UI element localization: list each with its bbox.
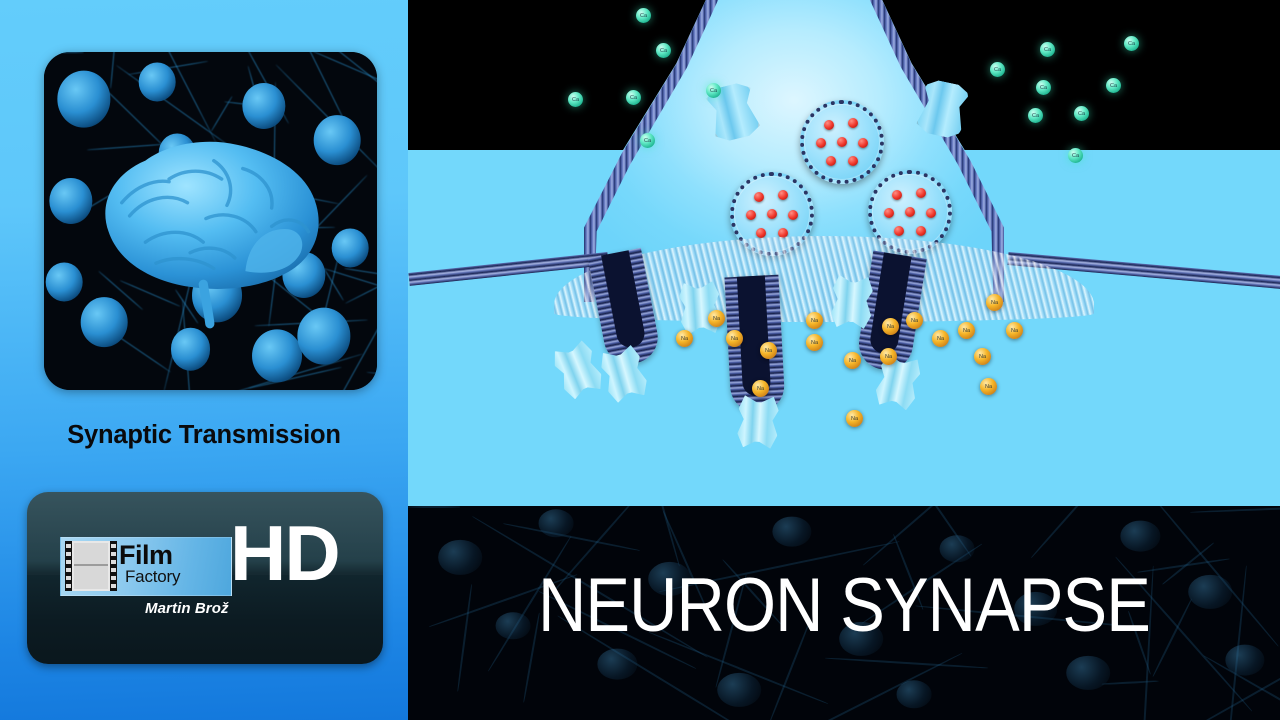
brand-name-film: Film xyxy=(119,542,173,569)
sodium-ion: Na xyxy=(932,330,949,347)
sodium-ion-label: Na xyxy=(752,380,769,397)
sodium-ion: Na xyxy=(760,342,777,359)
sodium-ion: Na xyxy=(986,294,1003,311)
sodium-ion-label: Na xyxy=(958,322,975,339)
sodium-ion-label: Na xyxy=(726,330,743,347)
sidebar-panel: Synaptic Transmission Film Factory xyxy=(0,0,408,720)
brand-name-factory: Factory xyxy=(125,568,180,585)
sodium-ion: Na xyxy=(906,312,923,329)
video-main-title: NEURON SYNAPSE xyxy=(460,568,1227,644)
calcium-ion: Ca xyxy=(1036,80,1051,95)
brain-illustration xyxy=(77,113,340,329)
sodium-ion-label: Na xyxy=(906,312,923,329)
sodium-ion-label: Na xyxy=(708,310,725,327)
sodium-ion-label: Na xyxy=(986,294,1003,311)
calcium-ion: Ca xyxy=(568,92,583,107)
sodium-ion-label: Na xyxy=(932,330,949,347)
hd-quality-label: HD xyxy=(230,514,339,592)
sodium-ion-label: Na xyxy=(846,410,863,427)
title-band: NEURON SYNAPSE xyxy=(408,506,1280,720)
sodium-ion-label: Na xyxy=(980,378,997,395)
calcium-ion: Ca xyxy=(990,62,1005,77)
video-frame[interactable]: Ca Ca Ca Ca Ca Ca Ca Ca Ca Ca Ca Ca Ca C… xyxy=(408,0,1280,720)
calcium-ion-label: Ca xyxy=(640,133,655,148)
calcium-ion-label: Ca xyxy=(626,90,641,105)
sodium-ion: Na xyxy=(844,352,861,369)
calcium-ion-label: Ca xyxy=(568,92,583,107)
sodium-ion-label: Na xyxy=(880,348,897,365)
hd-badge-card: Film Factory Martin Brož HD xyxy=(27,492,383,664)
calcium-ion: Ca xyxy=(626,90,641,105)
sodium-ion-label: Na xyxy=(974,348,991,365)
sodium-ion: Na xyxy=(708,310,725,327)
sodium-ion: Na xyxy=(974,348,991,365)
calcium-ion: Ca xyxy=(656,43,671,58)
filmstrip-icon xyxy=(65,541,117,591)
video-thumbnail[interactable] xyxy=(44,52,377,390)
calcium-ion: Ca xyxy=(1124,36,1139,51)
calcium-ion-label: Ca xyxy=(706,83,721,98)
calcium-ion-label: Ca xyxy=(1106,78,1121,93)
screenshot-root: Synaptic Transmission Film Factory xyxy=(0,0,1280,720)
sodium-ion: Na xyxy=(880,348,897,365)
sodium-ion: Na xyxy=(958,322,975,339)
sodium-ion: Na xyxy=(676,330,693,347)
sodium-ion-label: Na xyxy=(844,352,861,369)
calcium-ion: Ca xyxy=(1040,42,1055,57)
sodium-ion: Na xyxy=(882,318,899,335)
sodium-ion-label: Na xyxy=(676,330,693,347)
synaptic-vesicle xyxy=(800,100,884,184)
synaptic-cleft xyxy=(408,236,1280,506)
sodium-ion-label: Na xyxy=(806,312,823,329)
sodium-ion: Na xyxy=(980,378,997,395)
calcium-ion: Ca xyxy=(706,83,721,98)
author-name: Martin Brož xyxy=(145,600,229,617)
sodium-ion: Na xyxy=(1006,322,1023,339)
calcium-ion-label: Ca xyxy=(990,62,1005,77)
sodium-ion: Na xyxy=(726,330,743,347)
calcium-ion-label: Ca xyxy=(1028,108,1043,123)
calcium-ion-label: Ca xyxy=(656,43,671,58)
sodium-ion: Na xyxy=(806,334,823,351)
calcium-ion-label: Ca xyxy=(1124,36,1139,51)
receptor-protein xyxy=(550,338,607,401)
calcium-ion-label: Ca xyxy=(1068,148,1083,163)
sodium-ion-label: Na xyxy=(882,318,899,335)
synapse-illustration: Ca Ca Ca Ca Ca Ca Ca Ca Ca Ca Ca Ca Ca C… xyxy=(408,0,1280,506)
calcium-ion-label: Ca xyxy=(1040,42,1055,57)
calcium-ion: Ca xyxy=(1074,106,1089,121)
sodium-ion: Na xyxy=(752,380,769,397)
calcium-ion-label: Ca xyxy=(636,8,651,23)
calcium-ion-label: Ca xyxy=(1036,80,1051,95)
sodium-ion: Na xyxy=(846,410,863,427)
calcium-ion: Ca xyxy=(1068,148,1083,163)
calcium-ion-label: Ca xyxy=(1074,106,1089,121)
calcium-ion: Ca xyxy=(1106,78,1121,93)
film-factory-logo: Film Factory xyxy=(60,537,232,596)
sodium-ion-label: Na xyxy=(760,342,777,359)
sodium-ion: Na xyxy=(806,312,823,329)
sodium-ion-label: Na xyxy=(1006,322,1023,339)
calcium-ion: Ca xyxy=(1028,108,1043,123)
receptor-protein xyxy=(737,395,780,449)
sodium-ion-label: Na xyxy=(806,334,823,351)
page-title: Synaptic Transmission xyxy=(0,421,408,450)
calcium-ion: Ca xyxy=(640,133,655,148)
calcium-ion: Ca xyxy=(636,8,651,23)
